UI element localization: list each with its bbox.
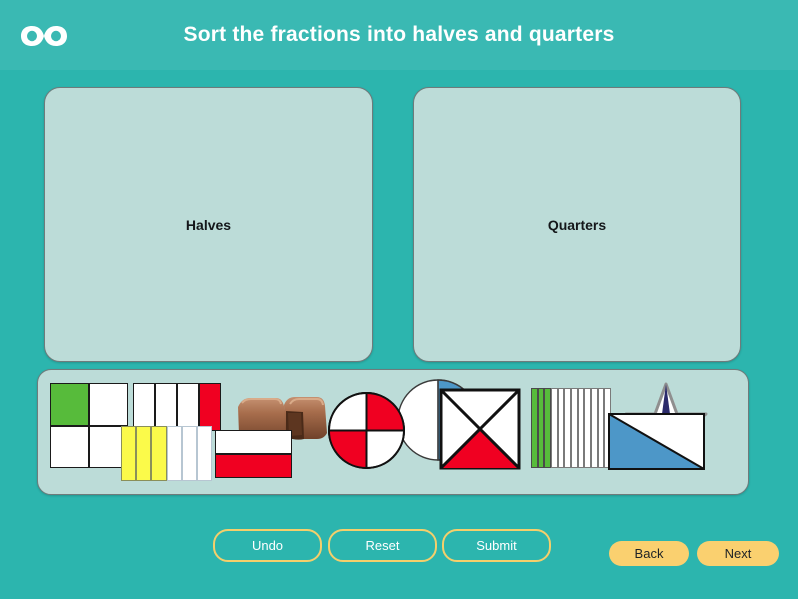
dropzone-quarters[interactable]: Quarters xyxy=(413,87,741,362)
submit-button[interactable]: Submit xyxy=(442,529,551,562)
piece-bar-4-columns-one-red[interactable] xyxy=(133,383,221,431)
fraction-cell xyxy=(215,430,292,454)
piece-square-2x2-one-green-quarter[interactable] xyxy=(50,383,128,468)
app-header: Sort the fractions into halves and quart… xyxy=(0,0,798,70)
fraction-cell xyxy=(177,383,199,431)
fraction-cell xyxy=(182,426,197,481)
fraction-cell xyxy=(558,388,565,468)
dropzone-halves[interactable]: Halves xyxy=(44,87,373,362)
piece-square-two-diagonals-bottom-triangle-red[interactable] xyxy=(439,388,521,470)
fraction-cell xyxy=(155,383,177,431)
fraction-cell xyxy=(50,383,89,426)
fraction-cell xyxy=(584,388,591,468)
fraction-cell xyxy=(151,426,166,481)
dropzone-quarters-label: Quarters xyxy=(414,217,740,233)
fraction-cell xyxy=(133,383,155,431)
fraction-cell xyxy=(598,388,605,468)
fraction-cell xyxy=(544,388,551,468)
fraction-cell xyxy=(121,426,136,481)
fraction-cell xyxy=(136,426,151,481)
page-title: Sort the fractions into halves and quart… xyxy=(0,0,798,70)
fraction-cell xyxy=(531,388,538,468)
back-button[interactable]: Back xyxy=(609,541,689,566)
piece-rectangle-split-horizontally-bottom-red[interactable] xyxy=(215,430,292,478)
next-button[interactable]: Next xyxy=(697,541,779,566)
fraction-cell xyxy=(578,388,585,468)
fraction-cell xyxy=(50,426,89,469)
undo-button[interactable]: Undo xyxy=(213,529,322,562)
fraction-cell xyxy=(571,388,578,468)
fraction-cell xyxy=(215,454,292,478)
piece-bar-6-columns-three-yellow[interactable] xyxy=(121,426,212,481)
piece-square-12-vertical-strips-three-green[interactable] xyxy=(531,388,611,468)
dropzone-halves-label: Halves xyxy=(45,217,372,233)
fraction-cell xyxy=(199,383,221,431)
fraction-pieces-tray xyxy=(37,369,749,495)
reset-button[interactable]: Reset xyxy=(328,529,437,562)
fraction-cell xyxy=(538,388,545,468)
piece-circle-quartered-two-red[interactable] xyxy=(327,391,406,470)
fraction-cell xyxy=(167,426,182,481)
fraction-cell xyxy=(591,388,598,468)
fraction-cell xyxy=(564,388,571,468)
fraction-cell xyxy=(197,426,212,481)
fraction-cell xyxy=(89,383,128,426)
fraction-cell xyxy=(551,388,558,468)
piece-rectangle-split-diagonally-blue[interactable] xyxy=(608,413,705,470)
